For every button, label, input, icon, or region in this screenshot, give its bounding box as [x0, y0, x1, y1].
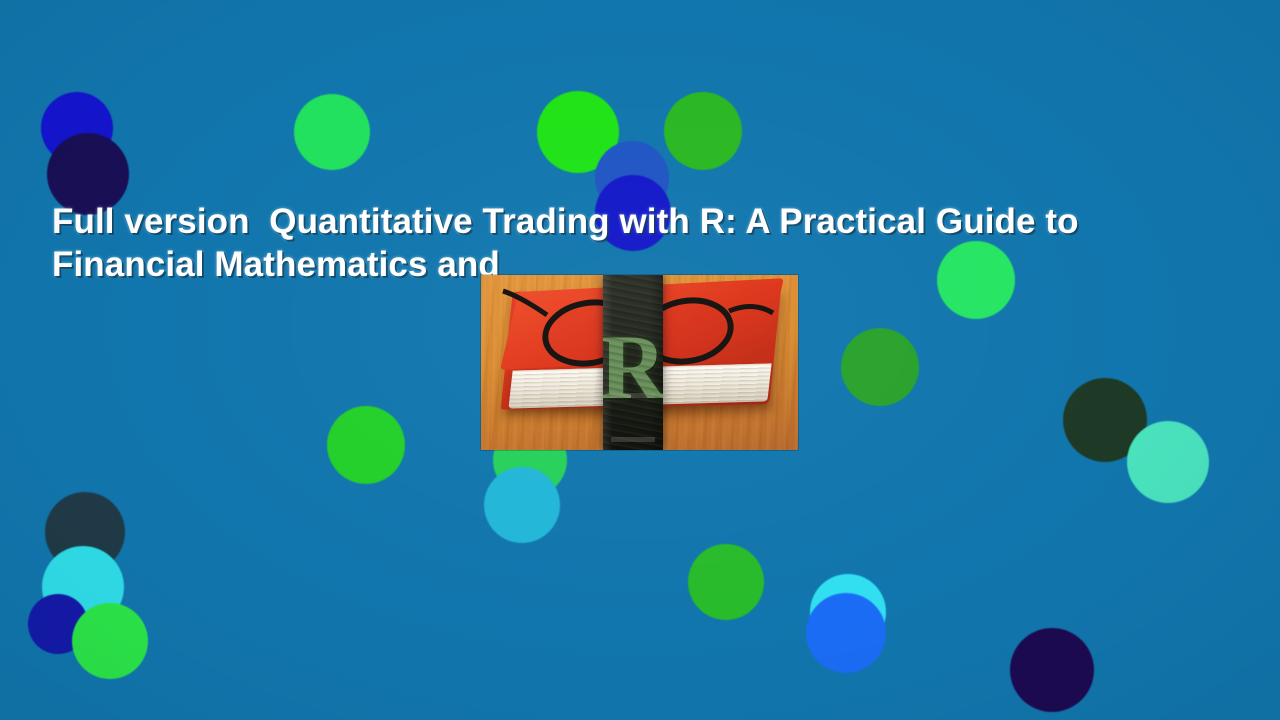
circle-navy-bottom-center — [1010, 628, 1094, 712]
page-title: Full version Quantitative Trading with R… — [52, 200, 1152, 286]
circle-green-top-3 — [664, 92, 742, 170]
circle-green-center-right — [688, 544, 764, 620]
circle-green-left-mid — [327, 406, 405, 484]
book-cover-thumbnail: R — [481, 275, 798, 450]
page-title-text: Full version Quantitative Trading with R… — [52, 202, 1088, 284]
thumbnail-slide: Full version Quantitative Trading with R… — [0, 0, 1280, 720]
circle-blue-bottom-right — [806, 593, 886, 673]
spine-rule-1 — [611, 393, 655, 398]
spine-texture — [603, 275, 663, 450]
circle-green-right-upper — [841, 328, 919, 406]
circle-green-top-1 — [294, 94, 370, 170]
circle-cyan-under-book — [484, 467, 560, 543]
spine-rule-2 — [611, 437, 655, 442]
circle-green-bottom-left — [72, 603, 148, 679]
circle-mint-right — [1127, 421, 1209, 503]
book-spine: R — [603, 275, 663, 450]
